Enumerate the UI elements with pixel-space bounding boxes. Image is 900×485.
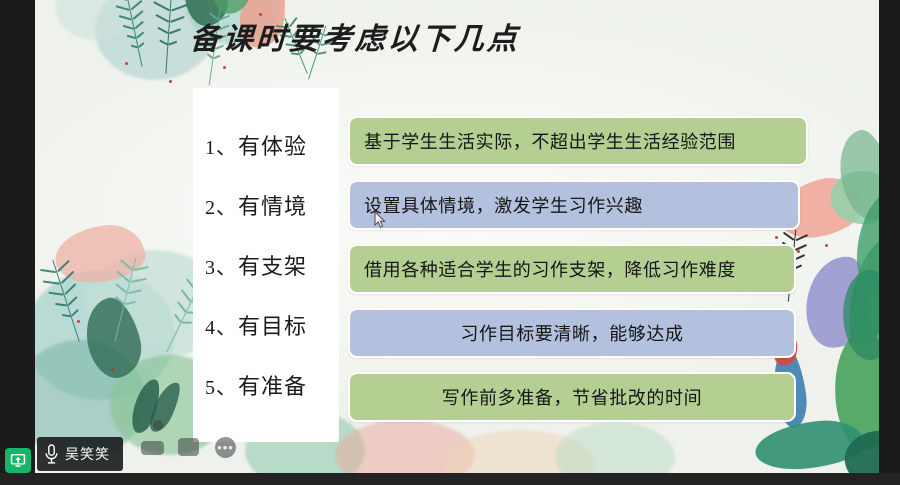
detail-bar: 借用各种适合学生的习作支架，降低习作难度 [348, 244, 796, 294]
ghost-share-icon [178, 438, 199, 456]
numbered-list-panel: 1、 有体验 2、 有情境 3、 有支架 4、 有目标 5、 有准备 [193, 88, 339, 442]
list-item: 5、 有准备 [193, 362, 339, 408]
ghost-dot-icon [153, 420, 163, 430]
screen-share-indicator[interactable] [5, 448, 31, 473]
list-item-number: 4、 [205, 311, 237, 340]
detail-bar-label: 基于学生生活实际，不超出学生生活经验范围 [364, 128, 736, 154]
list-item-label: 有情境 [238, 189, 307, 221]
list-item-label: 有体验 [238, 129, 307, 161]
list-item-label: 有目标 [238, 309, 307, 341]
screen-share-icon [10, 453, 26, 468]
letterbox-left [0, 0, 35, 485]
list-item: 4、 有目标 [193, 302, 339, 348]
list-item: 1、 有体验 [193, 122, 339, 168]
detail-bar-label: 借用各种适合学生的习作支架，降低习作难度 [364, 256, 736, 282]
detail-bar: 写作前多准备，节省批改的时间 [348, 372, 796, 422]
participant-name: 吴笑笑 [65, 444, 110, 464]
list-item-number: 3、 [205, 251, 237, 280]
participant-name-pill[interactable]: 吴笑笑 [37, 437, 123, 471]
detail-bars-group: 基于学生生活实际，不超出学生生活经验范围 设置具体情境，激发学生习作兴趣 借用各… [348, 116, 808, 436]
video-conference-screen: ••• 备课时要考虑以下几点 1、 有体验 2、 有情境 3、 有支架 4、 有… [0, 0, 900, 485]
list-item-number: 1、 [205, 131, 237, 160]
presentation-slide: ••• 备课时要考虑以下几点 1、 有体验 2、 有情境 3、 有支架 4、 有… [35, 0, 879, 473]
ghost-more-icon: ••• [215, 437, 236, 458]
letterbox-bottom [0, 473, 900, 485]
list-item-label: 有准备 [238, 369, 307, 401]
list-item-number: 5、 [205, 371, 237, 400]
list-item-label: 有支架 [238, 249, 307, 281]
detail-bar-label: 写作前多准备，节省批改的时间 [442, 384, 702, 410]
list-item: 3、 有支架 [193, 242, 339, 288]
microphone-icon [44, 444, 59, 465]
list-item-number: 2、 [205, 191, 237, 220]
detail-bar-label: 设置具体情境，激发学生习作兴趣 [364, 192, 643, 218]
slide-title: 备课时要考虑以下几点 [189, 14, 521, 58]
detail-bar-label: 习作目标要清晰，能够达成 [460, 320, 683, 346]
botanical-decoration-right-edge [841, 120, 879, 360]
ghost-camera-icon [141, 441, 164, 455]
detail-bar: 基于学生生活实际，不超出学生生活经验范围 [348, 116, 808, 166]
letterbox-right [879, 0, 900, 485]
mouse-cursor [374, 211, 386, 229]
detail-bar: 设置具体情境，激发学生习作兴趣 [348, 180, 800, 230]
list-item: 2、 有情境 [193, 182, 339, 228]
detail-bar: 习作目标要清晰，能够达成 [348, 308, 796, 358]
